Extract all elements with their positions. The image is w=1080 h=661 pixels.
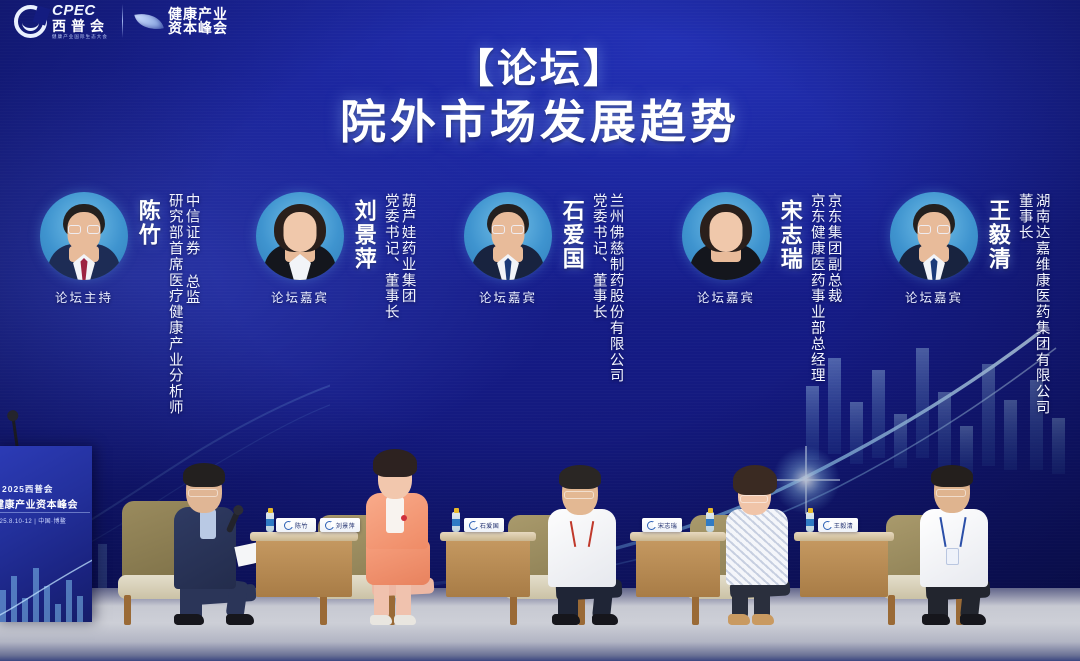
panelist-title-2-line1: 党委书记、董事长 — [590, 193, 606, 384]
panelist-card-3: 论坛嘉宾 宋志瑞 京东集团副总裁 京东健康医药事业部总经理 — [676, 183, 841, 384]
water-bottle-0 — [266, 512, 274, 532]
panelist-title-4: 湖南达嘉维康医药集团有限公司 董事长 — [1015, 193, 1049, 416]
panelist-name-2: 石爱国 — [560, 199, 584, 271]
nameplate-2: 石爱国 — [464, 518, 504, 532]
health-logo-line2: 资本峰会 — [168, 21, 228, 35]
panelist-role-4: 论坛嘉宾 — [884, 287, 984, 306]
panelist-card-4: 论坛嘉宾 王毅清 湖南达嘉维康医药集团有限公司 董事长 — [884, 183, 1049, 416]
nameplate-text-2: 石爱国 — [480, 521, 499, 530]
cpec-ring-icon — [14, 5, 47, 38]
panelist-avatar-3 — [682, 192, 770, 280]
water-bottle-1 — [452, 512, 460, 532]
nameplate-logo-icon-3 — [647, 521, 656, 530]
side-table-top-0 — [250, 532, 358, 541]
panelist-card-1: 论坛嘉宾 刘景萍 葫芦娃药业集团 党委书记、董事长 — [250, 183, 415, 320]
nameplate-logo-icon-2 — [469, 521, 478, 530]
nameplate-4: 王毅清 — [818, 518, 858, 532]
conference-stage-photo: CPEC 西普会 健康产业国际生态大会 健康产业 资本峰会 【论坛】 院外市场发… — [0, 0, 1080, 661]
panelist-title-0-line1: 研究部首席医疗健康产业分析师 — [166, 193, 182, 416]
forum-title-block: 【论坛】 院外市场发展趋势 — [0, 46, 1080, 150]
side-table-top-3 — [794, 532, 894, 541]
nameplate-text-0: 陈竹 — [295, 521, 308, 530]
cpec-logo: CPEC 西普会 健康产业国际生态大会 — [14, 3, 109, 40]
nameplate-3: 宋志瑞 — [642, 518, 682, 532]
panelist-name-1: 刘景萍 — [352, 199, 376, 271]
panelist-name-3: 宋志瑞 — [778, 199, 802, 271]
panelist-card-row: 论坛主持 陈竹 中信证券 总监 研究部首席医疗健康产业分析师 论坛嘉宾 刘景萍 … — [0, 183, 1080, 433]
panelist-title-0-line0: 中信证券 总监 — [183, 193, 199, 416]
panelist-role-3: 论坛嘉宾 — [676, 287, 776, 306]
health-logo-line1: 健康产业 — [168, 7, 228, 21]
panelist-role-1: 论坛嘉宾 — [250, 287, 350, 306]
logo-divider — [122, 4, 123, 38]
panelist-avatar-0 — [40, 192, 128, 280]
side-table-3 — [800, 535, 888, 597]
cpec-logo-sub: 健康产业国际生态大会 — [52, 35, 109, 40]
side-table-top-1 — [440, 532, 536, 541]
panelist-title-1: 葫芦娃药业集团 党委书记、董事长 — [381, 193, 415, 320]
panelist-role-0: 论坛主持 — [34, 287, 134, 306]
side-table-2 — [636, 535, 720, 597]
side-table-1 — [446, 535, 530, 597]
panelist-title-3-line1: 京东健康医药事业部总经理 — [808, 193, 824, 384]
panelist-title-2: 兰州佛慈制药股份有限公司 党委书记、董事长 — [589, 193, 623, 384]
panelist-card-0: 论坛主持 陈竹 中信证券 总监 研究部首席医疗健康产业分析师 — [34, 183, 199, 416]
panelist-title-4-line1: 董事长 — [1016, 193, 1032, 416]
water-bottle-3 — [806, 512, 814, 532]
nameplate-logo-icon-4 — [823, 521, 832, 530]
cpec-logo-cn: 西普会 — [52, 19, 109, 33]
panelist-avatar-1 — [256, 192, 344, 280]
seated-person-0 — [152, 430, 262, 625]
event-logo-bar: CPEC 西普会 健康产业国际生态大会 健康产业 资本峰会 — [14, 3, 228, 40]
health-summit-logo: 健康产业 资本峰会 — [136, 7, 228, 36]
leaf-icon — [134, 9, 163, 33]
panelist-title-4-line0: 湖南达嘉维康医药集团有限公司 — [1033, 193, 1049, 416]
water-bottle-2 — [706, 512, 714, 532]
seated-person-2 — [528, 427, 638, 625]
panelist-title-3: 京东集团副总裁 京东健康医药事业部总经理 — [807, 193, 841, 384]
panelist-avatar-4 — [890, 192, 978, 280]
cpec-logo-en: CPEC — [52, 3, 109, 18]
nameplate-text-1: 刘景萍 — [336, 521, 355, 530]
nameplate-1: 刘景萍 — [320, 518, 360, 532]
nameplate-logo-icon-1 — [325, 521, 334, 530]
forum-title-line2: 院外市场发展趋势 — [0, 95, 1080, 150]
panelist-avatar-2 — [464, 192, 552, 280]
panelist-title-3-line0: 京东集团副总裁 — [825, 193, 841, 384]
seated-panel-group: 陈竹 刘景萍 石爱国 宋志瑞 王毅清 — [0, 400, 1080, 625]
nameplate-logo-icon-0 — [284, 521, 293, 530]
nameplate-text-4: 王毅清 — [834, 521, 853, 530]
seated-person-4 — [900, 427, 1010, 625]
panelist-title-1-line0: 葫芦娃药业集团 — [399, 193, 415, 320]
nameplate-0: 陈竹 — [276, 518, 316, 532]
panelist-name-0: 陈竹 — [136, 199, 160, 247]
forum-title-line1: 【论坛】 — [0, 46, 1080, 93]
panelist-card-2: 论坛嘉宾 石爱国 兰州佛慈制药股份有限公司 党委书记、董事长 — [458, 183, 623, 384]
panelist-name-4: 王毅清 — [986, 199, 1010, 271]
panelist-title-0: 中信证券 总监 研究部首席医疗健康产业分析师 — [165, 193, 199, 416]
nameplate-text-3: 宋志瑞 — [658, 521, 677, 530]
panelist-role-2: 论坛嘉宾 — [458, 287, 558, 306]
panelist-title-2-line0: 兰州佛慈制药股份有限公司 — [607, 193, 623, 384]
side-table-0 — [256, 535, 352, 597]
side-table-top-2 — [630, 532, 726, 541]
panelist-title-1-line1: 党委书记、董事长 — [382, 193, 398, 320]
